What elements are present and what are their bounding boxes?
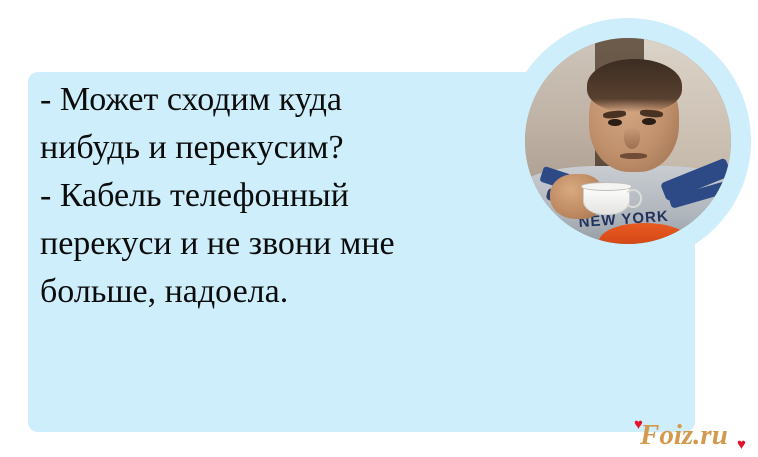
circular-photo-man-with-coffee-cup: NEW YORK xyxy=(525,38,731,244)
joke-line-4: перекуси и не звони мне xyxy=(40,220,510,268)
joke-line-5: больше, надоела. xyxy=(40,268,510,316)
foiz-ru-watermark: ♥ Foiz.ru ♥ xyxy=(624,416,754,457)
joke-line-1: - Может сходим куда xyxy=(40,76,510,124)
photo-hair xyxy=(587,59,682,113)
watermark-text: Foiz.ru xyxy=(640,418,728,452)
photo-mouth xyxy=(620,153,647,158)
meme-canvas: NEW YORK - Может сходим куда нибудь и пе… xyxy=(0,0,758,457)
photo-coffee-cup-handle xyxy=(624,189,642,207)
joke-line-3: - Кабель телефонный xyxy=(40,172,510,220)
photo-coffee-cup-rim xyxy=(581,182,632,191)
joke-line-2: нибудь и перекусим? xyxy=(40,124,510,172)
joke-text: - Может сходим куда нибудь и перекусим? … xyxy=(40,76,510,316)
heart-icon: ♥ xyxy=(737,438,746,453)
photo-halo-ring: NEW YORK xyxy=(505,18,751,264)
